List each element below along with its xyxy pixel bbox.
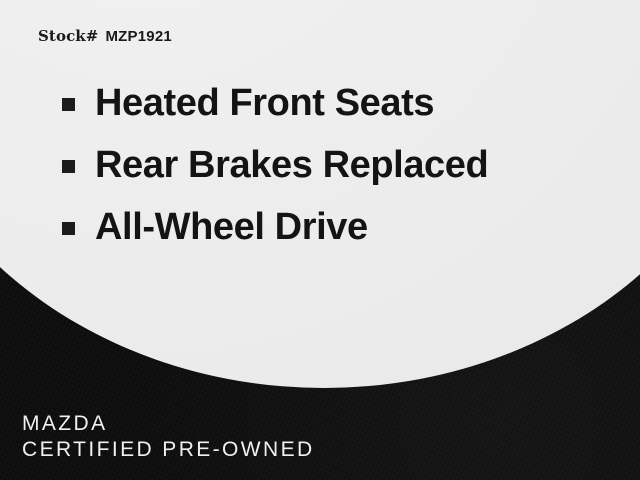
- square-bullet-icon: [62, 222, 75, 235]
- brand-lockup: MAZDA CERTIFIED PRE-OWNED: [22, 411, 315, 464]
- brand-name: MAZDA: [22, 411, 315, 437]
- feature-label: All-Wheel Drive: [95, 208, 368, 246]
- feature-label: Heated Front Seats: [95, 84, 434, 122]
- feature-label: Rear Brakes Replaced: [95, 146, 488, 184]
- square-bullet-icon: [62, 160, 75, 173]
- list-item: Rear Brakes Replaced: [62, 134, 602, 196]
- stock-number-label: Stock#: [38, 27, 98, 45]
- stock-number-line: Stock# MZP1921: [38, 27, 172, 45]
- brand-program-name: CERTIFIED PRE-OWNED: [22, 437, 315, 463]
- list-item: Heated Front Seats: [62, 72, 602, 134]
- vehicle-feature-card: Stock# MZP1921 Heated Front Seats Rear B…: [0, 0, 640, 480]
- list-item: All-Wheel Drive: [62, 196, 602, 258]
- feature-list: Heated Front Seats Rear Brakes Replaced …: [62, 72, 602, 258]
- square-bullet-icon: [62, 98, 75, 111]
- stock-number-value: MZP1921: [105, 28, 171, 45]
